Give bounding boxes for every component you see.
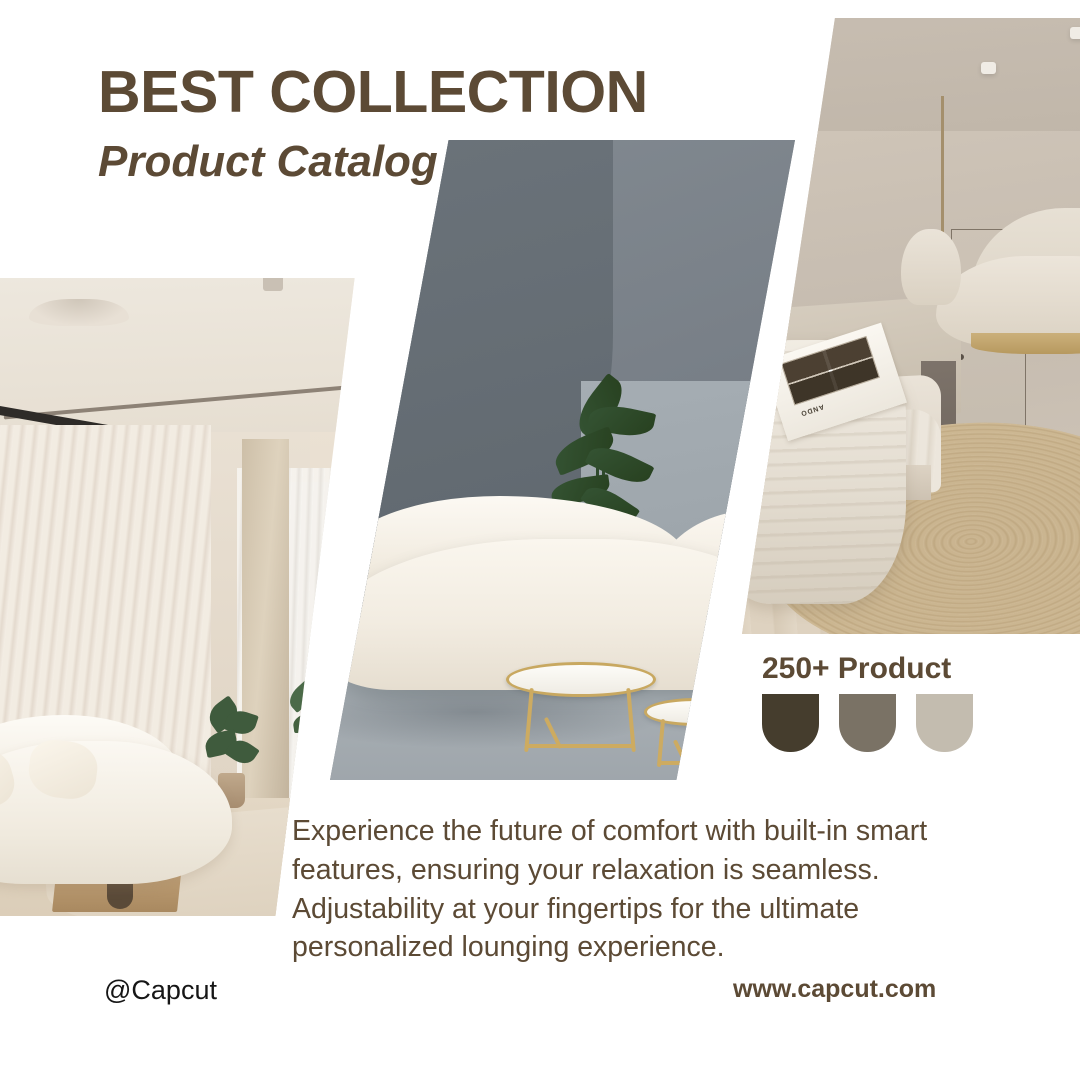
color-swatch-warm-taupe[interactable] (839, 694, 896, 752)
book-title: ANDO (799, 403, 825, 417)
pendant-lamp (29, 299, 129, 326)
studio-sofa-photo (330, 140, 795, 780)
website-url[interactable]: www.capcut.com (733, 975, 936, 1004)
coffee-table-small (644, 698, 750, 770)
small-ottoman (901, 229, 961, 306)
coffee-table-large (506, 662, 656, 756)
color-swatch-group (762, 694, 973, 752)
poster-canvas: ANDO BEST COLLECTION Product Catalog 250… (0, 0, 1080, 1080)
ceiling-spotlight (1070, 27, 1080, 39)
description-paragraph: Experience the future of comfort with bu… (292, 812, 962, 967)
round-pouf (330, 604, 338, 683)
gallery-image-bedroom[interactable]: ANDO (742, 18, 1080, 634)
color-swatch-dark-olive-brown[interactable] (762, 694, 819, 752)
social-handle: @Capcut (104, 975, 217, 1006)
ceiling-spotlight (981, 62, 996, 74)
gallery-image-studio-sofa[interactable] (330, 140, 795, 780)
page-subtitle: Product Catalog (98, 138, 438, 186)
ceiling-spot (263, 278, 283, 291)
page-title: BEST COLLECTION (98, 63, 648, 122)
bedroom-photo: ANDO (742, 18, 1080, 634)
product-count-label: 250+ Product (762, 652, 951, 686)
color-swatch-light-greige[interactable] (916, 694, 973, 752)
chair-brass-base (971, 333, 1080, 354)
